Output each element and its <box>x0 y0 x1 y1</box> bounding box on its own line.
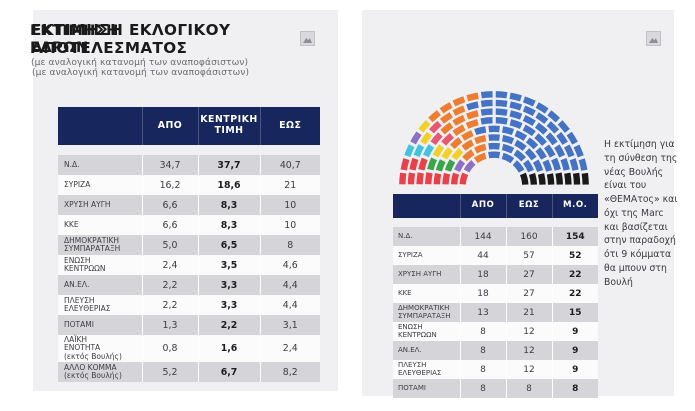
row-value-to: 4,4 <box>260 295 320 315</box>
seats-table-header: ΑΠΟ ΕΩΣ Μ.Ο. <box>393 194 598 218</box>
row-party-label: ΑΝ.ΕΛ. <box>393 341 460 360</box>
parliament-seat <box>510 119 523 129</box>
row-value-from: 2,4 <box>142 255 198 275</box>
row-party-label: ΔΗΜΟΚΡΑΤΙΚΗ ΣΥΜΠΑΡΑΤΑΞΗ <box>393 303 460 322</box>
parliament-seat <box>454 159 465 172</box>
parliament-seat <box>442 173 450 185</box>
parliament-seat <box>474 144 486 154</box>
parliament-seat <box>440 102 453 113</box>
parliament-seat <box>440 112 453 124</box>
row-value-mid: 2,2 <box>198 315 260 335</box>
parliament-seat <box>502 144 514 154</box>
row-value-from: 6,6 <box>142 195 198 215</box>
parliament-seat <box>488 126 499 133</box>
row-seats-to: 8 <box>506 379 552 398</box>
parliament-seat <box>533 160 543 172</box>
row-value-from: 1,3 <box>142 315 198 335</box>
parliament-seat <box>520 173 529 185</box>
table-row: ΕΝΩΣΗ ΚΕΝΤΡΩΩΝ2,43,54,6 <box>58 255 320 275</box>
table-row: ΣΥΡΙΖΑ445752 <box>393 246 598 265</box>
row-party-label: ΕΝΩΣΗ ΚΕΝΤΡΩΩΝ <box>393 322 460 341</box>
row-party-label: ΣΥΡΙΖΑ <box>58 175 142 195</box>
parliament-seat <box>555 172 563 184</box>
parliament-seat <box>466 119 479 129</box>
row-party-label: ΠΟΤΑΜΙ <box>58 315 142 335</box>
row-value-from: 6,6 <box>142 215 198 235</box>
broken-image-placeholder-icon <box>300 31 315 46</box>
parliament-seat <box>409 158 418 171</box>
parliament-seat <box>401 158 410 170</box>
table-spacer-row <box>58 145 320 155</box>
row-seats-avg: 22 <box>552 284 598 303</box>
row-party-label: ΠΛΕΥΣΗ ΕΛΕΥΘΕΡΙΑΣ <box>58 295 142 315</box>
row-value-to: 21 <box>260 175 320 195</box>
table-row: ΠΛΕΥΣΗ ΕΛΕΥΘΕΡΙΑΣ2,23,34,4 <box>58 295 320 315</box>
parliament-seat <box>529 173 537 185</box>
parliament-seat <box>466 110 479 119</box>
parliament-seat <box>554 144 565 157</box>
parliament-seat <box>509 93 521 102</box>
parliament-seat <box>547 110 560 122</box>
parliament-seat <box>535 112 548 124</box>
row-seats-from: 18 <box>460 284 506 303</box>
table-row: ΠΟΤΑΜΙ1,32,23,1 <box>58 315 320 335</box>
parliament-seat <box>474 153 487 163</box>
seats-header-from: ΑΠΟ <box>460 194 506 218</box>
row-value-from: 0,8 <box>142 335 198 362</box>
votes-header-mid: ΚΕΝΤΡΙΚΗ ΤΙΜΗ <box>198 107 260 145</box>
row-seats-to: 12 <box>506 322 552 341</box>
row-party-label: ΣΥΡΙΖΑ <box>393 246 460 265</box>
parliament-seat <box>523 160 534 173</box>
votes-panel-subtitle: (με αναλογική κατανομή των αναποφάσιστων… <box>32 68 249 78</box>
row-seats-avg: 9 <box>552 322 598 341</box>
row-party-label: ΕΝΩΣΗ ΚΕΝΤΡΩΩΝ <box>58 255 142 275</box>
table-row: ΚΚΕ182722 <box>393 284 598 303</box>
parliament-seat <box>452 105 465 116</box>
parliament-seat <box>538 173 546 185</box>
parliament-seat <box>514 140 527 151</box>
row-party-label: ΠΛΕΥΣΗ ΕΛΕΥΘΕΡΙΑΣ <box>393 360 460 379</box>
parliament-seat <box>440 122 453 134</box>
table-spacer-row <box>393 218 598 227</box>
row-value-from: 5,0 <box>142 235 198 255</box>
seats-panel-subtitle: (με αναλογική κατανομή των αναποφάσιστων… <box>31 58 248 68</box>
row-seats-to: 12 <box>506 341 552 360</box>
seats-header-party <box>393 194 460 218</box>
table-row: ΧΡΥΣΗ ΑΥΓΗ6,68,310 <box>58 195 320 215</box>
parliament-seat <box>582 173 589 185</box>
parliament-seat <box>481 108 493 115</box>
parliament-seat <box>488 134 500 141</box>
parliament-seat <box>551 158 561 171</box>
row-value-mid: 18,6 <box>198 175 260 195</box>
row-value-from: 2,2 <box>142 275 198 295</box>
row-party-label: ΧΡΥΣΗ ΑΥΓΗ <box>58 195 142 215</box>
parliament-seat <box>535 122 548 134</box>
row-value-to: 4,6 <box>260 255 320 275</box>
votes-table: ΑΠΟ ΚΕΝΤΡΙΚΗ ΤΙΜΗ ΕΩΣ Ν.Δ.34,737,740,7ΣΥ… <box>58 107 320 382</box>
parliament-seat <box>546 132 558 145</box>
parliament-seat <box>428 110 441 122</box>
row-seats-from: 18 <box>460 265 506 284</box>
row-party-label: ΚΚΕ <box>393 284 460 303</box>
row-value-to: 2,4 <box>260 335 320 362</box>
parliament-seat <box>510 110 523 119</box>
row-seats-from: 144 <box>460 227 506 246</box>
row-value-mid: 8,3 <box>198 195 260 215</box>
table-row: ΧΡΥΣΗ ΑΥΓΗ182722 <box>393 265 598 284</box>
parliament-seat <box>574 145 584 158</box>
row-seats-to: 27 <box>506 265 552 284</box>
parliament-seat <box>466 101 479 110</box>
parliament-seat <box>564 144 575 157</box>
seats-header-to: ΕΩΣ <box>506 194 552 218</box>
row-value-to: 4,4 <box>260 275 320 295</box>
parliament-seat <box>462 149 474 161</box>
parliament-seat <box>453 96 466 106</box>
row-value-from: 2,2 <box>142 295 198 315</box>
row-seats-from: 8 <box>460 360 506 379</box>
row-seats-avg: 52 <box>552 246 598 265</box>
row-value-mid: 1,6 <box>198 335 260 362</box>
votes-table-body: Ν.Δ.34,737,740,7ΣΥΡΙΖΑ16,218,621ΧΡΥΣΗ ΑΥ… <box>58 145 320 382</box>
row-party-label: ΠΟΤΑΜΙ <box>393 379 460 398</box>
seats-table-body: Ν.Δ.144160154ΣΥΡΙΖΑ445752ΧΡΥΣΗ ΑΥΓΗ18272… <box>393 218 598 398</box>
parliament-seat <box>451 173 459 185</box>
parliament-seat <box>420 132 432 145</box>
parliament-seat <box>513 160 525 172</box>
parliament-seat <box>496 108 508 115</box>
row-seats-from: 8 <box>460 379 506 398</box>
row-seats-avg: 22 <box>552 265 598 284</box>
seats-header-avg: Μ.Ο. <box>552 194 598 218</box>
parliament-seat <box>523 96 536 106</box>
row-seats-from: 13 <box>460 303 506 322</box>
parliament-seat <box>464 160 476 172</box>
row-seats-avg: 15 <box>552 303 598 322</box>
parliament-seat <box>510 101 523 110</box>
row-seats-to: 21 <box>506 303 552 322</box>
row-party-label: Ν.Δ. <box>58 155 142 175</box>
row-party-label: ΧΡΥΣΗ ΑΥΓΗ <box>393 265 460 284</box>
row-value-to: 10 <box>260 215 320 235</box>
parliament-seat <box>488 151 500 158</box>
row-party-label: ΔΗΜΟΚΡΑΤΙΚΗ ΣΥΜΠΑΡΑΤΑΞΗ <box>58 235 142 255</box>
row-party-label: ΑΝ.ΕΛ. <box>58 275 142 295</box>
row-value-to: 8,2 <box>260 362 320 382</box>
parliament-seat <box>514 150 526 162</box>
parliament-seat <box>474 135 486 144</box>
parliament-seat <box>399 173 406 185</box>
row-value-mid: 3,3 <box>198 275 260 295</box>
parliament-seat <box>460 172 469 184</box>
parliament-seat <box>556 132 568 145</box>
table-row: ΠΛΕΥΣΗ ΕΛΕΥΘΕΡΙΑΣ8129 <box>393 360 598 379</box>
row-seats-from: 8 <box>460 322 506 341</box>
table-row: ΔΗΜΟΚΡΑΤΙΚΗ ΣΥΜΠΑΡΑΤΑΞΗ5,06,58 <box>58 235 320 255</box>
table-row: Ν.Δ.34,737,740,7 <box>58 155 320 175</box>
parliament-seat <box>423 144 434 157</box>
row-party-label: ΛΑΪΚΗ ΕΝΟΤΗΤΑ (εκτός Βουλής) <box>58 335 142 362</box>
parliament-seat <box>414 144 425 157</box>
row-value-to: 40,7 <box>260 155 320 175</box>
table-row: ΑΛΛΟ ΚΟΜΜΑ (εκτός Βουλής)5,26,78,2 <box>58 362 320 382</box>
parliament-seat <box>408 173 415 185</box>
parliament-seat <box>461 130 473 141</box>
row-seats-to: 27 <box>506 284 552 303</box>
row-seats-avg: 9 <box>552 360 598 379</box>
parliament-seat <box>480 117 492 125</box>
parliament-seat <box>416 172 423 184</box>
table-row: ΣΥΡΙΖΑ16,218,621 <box>58 175 320 195</box>
parliament-seat <box>536 102 549 113</box>
parliament-seat <box>434 173 442 184</box>
seats-commentary-text: Η εκτίμηση για τη σύνθεση της νέας Βουλή… <box>604 138 678 289</box>
row-seats-avg: 9 <box>552 341 598 360</box>
parliament-seat <box>481 91 493 98</box>
table-row: ΑΝ.ΕΛ.2,23,34,4 <box>58 275 320 295</box>
parliament-seat <box>418 158 427 171</box>
parliament-seat <box>427 157 437 170</box>
table-row: ΔΗΜΟΚΡΑΤΙΚΗ ΣΥΜΠΑΡΑΤΑΞΗ132115 <box>393 303 598 322</box>
row-seats-to: 160 <box>506 227 552 246</box>
parliament-seat <box>502 126 514 135</box>
row-value-to: 10 <box>260 195 320 215</box>
row-seats-from: 8 <box>460 341 506 360</box>
votes-header-party <box>58 107 142 145</box>
parliament-seat <box>567 132 578 145</box>
row-value-from: 5,2 <box>142 362 198 382</box>
parliament-seat <box>430 132 442 145</box>
parliament-seat <box>523 115 536 126</box>
seats-table: ΑΠΟ ΕΩΣ Μ.Ο. Ν.Δ.144160154ΣΥΡΙΖΑ445752ΧΡ… <box>393 194 598 398</box>
row-seats-avg: 8 <box>552 379 598 398</box>
parliament-seat <box>481 100 493 107</box>
table-row: ΑΝ.ΕΛ.8129 <box>393 341 598 360</box>
row-value-from: 16,2 <box>142 175 198 195</box>
parliament-seat <box>436 159 446 171</box>
row-party-label: ΚΚΕ <box>58 215 142 235</box>
parliament-seat <box>573 173 580 185</box>
table-row: ΕΝΩΣΗ ΚΕΝΤΡΩΩΝ8129 <box>393 322 598 341</box>
parliament-seat <box>418 120 430 133</box>
parliament-seat <box>452 115 465 126</box>
parliament-seat <box>525 148 537 160</box>
parliament-seat <box>560 158 569 171</box>
votes-header-from: ΑΠΟ <box>142 107 198 145</box>
row-value-mid: 6,7 <box>198 362 260 382</box>
parliament-seat <box>488 143 500 150</box>
row-seats-to: 57 <box>506 246 552 265</box>
votes-table-header: ΑΠΟ ΚΕΝΤΡΙΚΗ ΤΙΜΗ ΕΩΣ <box>58 107 320 145</box>
parliament-hemicycle-chart <box>385 86 603 190</box>
parliament-seat <box>579 158 588 170</box>
row-value-mid: 6,5 <box>198 235 260 255</box>
row-value-mid: 3,3 <box>198 295 260 315</box>
parliament-seat <box>496 91 508 98</box>
row-value-to: 8 <box>260 235 320 255</box>
table-row: ΚΚΕ6,68,310 <box>58 215 320 235</box>
parliament-seat <box>543 160 553 172</box>
parliament-seat <box>547 173 555 184</box>
parliament-seat <box>404 144 414 157</box>
row-seats-to: 12 <box>506 360 552 379</box>
parliament-seat <box>558 120 570 133</box>
parliament-seat <box>429 121 442 133</box>
parliament-seat <box>523 106 536 117</box>
row-party-label: ΑΛΛΟ ΚΟΜΜΑ (εκτός Βουλής) <box>58 362 142 382</box>
parliament-seat <box>425 172 433 184</box>
row-value-to: 3,1 <box>260 315 320 335</box>
parliament-seat <box>502 135 514 144</box>
parliament-seat <box>474 126 486 135</box>
row-seats-avg: 154 <box>552 227 598 246</box>
parliament-seat <box>570 158 579 171</box>
row-value-mid: 8,3 <box>198 215 260 235</box>
parliament-seat <box>547 121 559 134</box>
parliament-seat <box>410 131 421 144</box>
row-value-mid: 3,5 <box>198 255 260 275</box>
parliament-seat <box>461 140 474 151</box>
votes-header-to: ΕΩΣ <box>260 107 320 145</box>
row-value-mid: 37,7 <box>198 155 260 175</box>
parliament-seat <box>451 148 463 160</box>
parliament-seat <box>496 100 508 107</box>
row-party-label: Ν.Δ. <box>393 227 460 246</box>
parliament-seat <box>515 130 527 141</box>
table-row: ΠΟΤΑΜΙ888 <box>393 379 598 398</box>
parliament-seat <box>466 93 478 102</box>
table-row: ΛΑΪΚΗ ΕΝΟΤΗΤΑ (εκτός Βουλής)0,81,62,4 <box>58 335 320 362</box>
parliament-seat <box>564 173 571 185</box>
row-value-from: 34,7 <box>142 155 198 175</box>
row-seats-from: 44 <box>460 246 506 265</box>
parliament-seat <box>502 153 515 163</box>
parliament-seat <box>496 117 508 125</box>
broken-image-placeholder-icon <box>646 31 661 46</box>
table-row: Ν.Δ.144160154 <box>393 227 598 246</box>
parliament-seat <box>445 159 455 171</box>
seats-panel-title: ΕΚΤΙΜΗΣΗ ΕΔΡΩΝ <box>30 22 215 56</box>
